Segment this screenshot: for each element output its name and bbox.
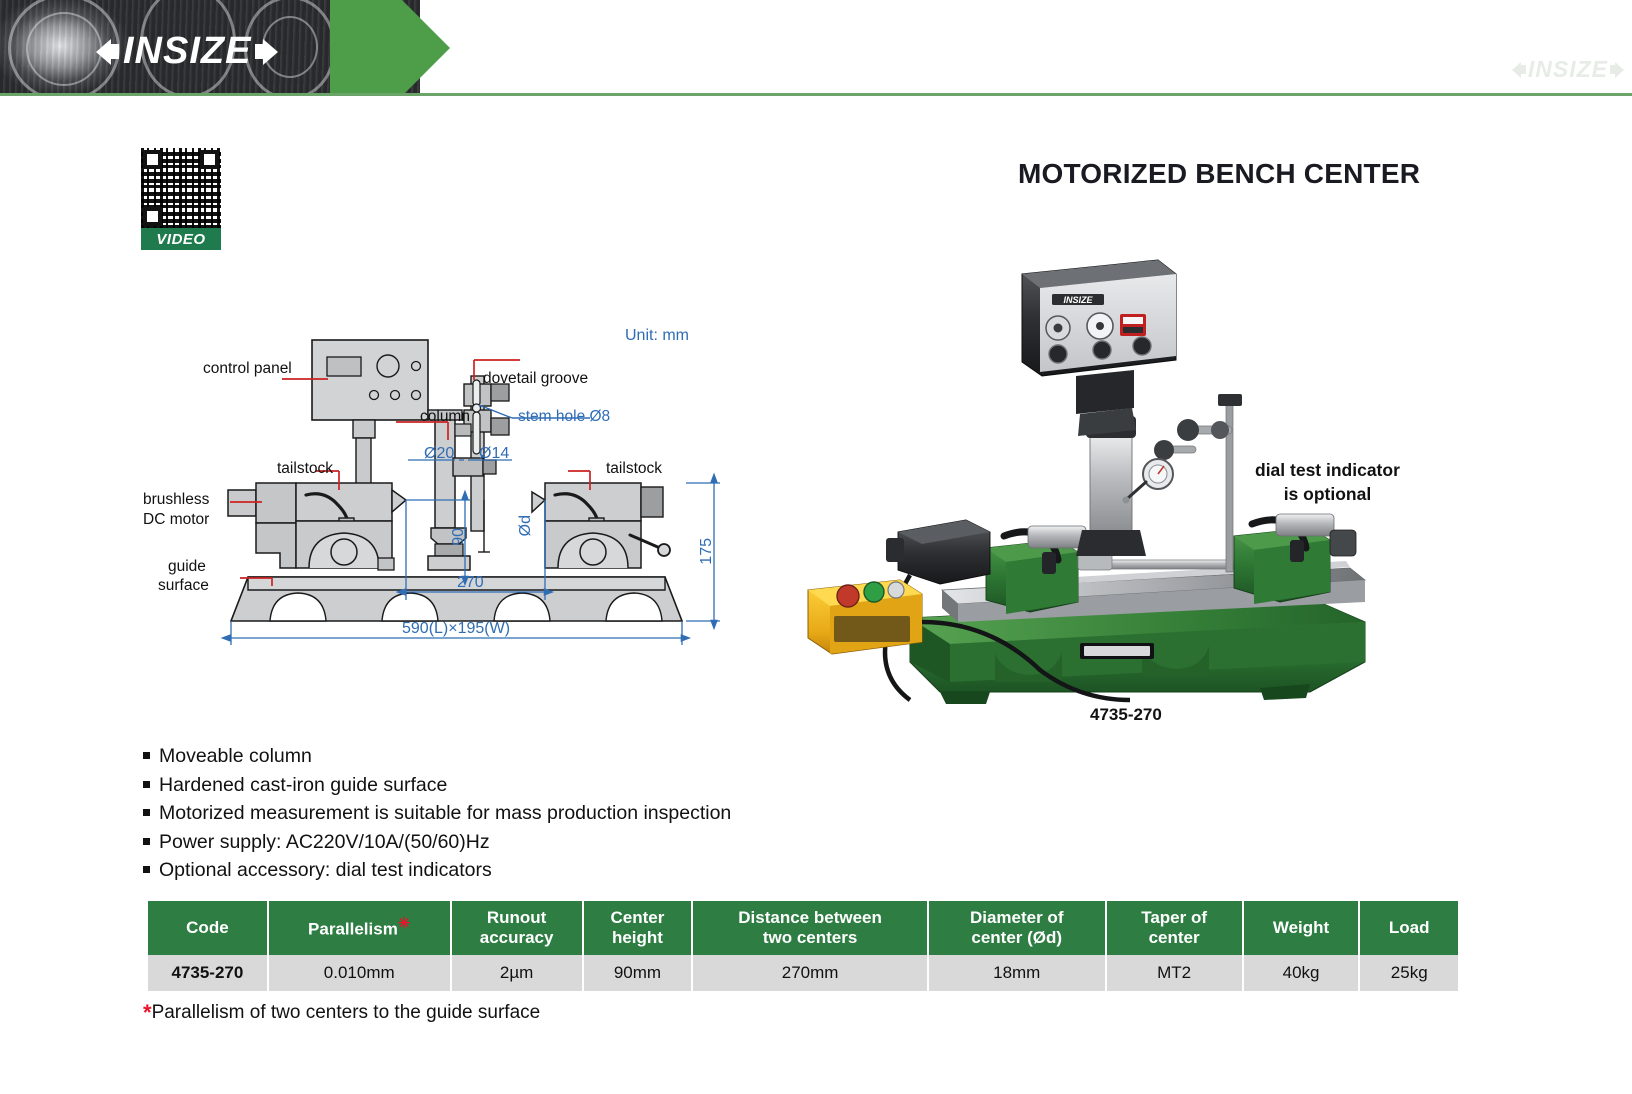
diagram-drawing bbox=[120, 300, 740, 670]
product-code-caption: 4735-270 bbox=[1090, 705, 1162, 725]
header-divider bbox=[0, 93, 1632, 96]
insize-logo: INSIZE bbox=[96, 30, 278, 73]
column-header-diameter-of-center: Diameter of center (Ød) bbox=[928, 901, 1106, 955]
list-item: Power supply: AC220V/10A/(50/60)Hz bbox=[143, 831, 731, 854]
bullet-square-icon bbox=[143, 866, 150, 873]
diameter-line1: Diameter of bbox=[933, 908, 1101, 928]
table-header-row: Code Parallelism✳ Runout accuracy Center… bbox=[148, 901, 1458, 955]
video-qr-block[interactable]: VIDEO bbox=[141, 148, 221, 250]
cell-parallelism: 0.010mm bbox=[268, 955, 451, 991]
feature-text: Hardened cast-iron guide surface bbox=[159, 774, 447, 797]
dimension-d14: Ø14 bbox=[479, 445, 509, 463]
runout-line1: Runout bbox=[456, 908, 578, 928]
runout-line2: accuracy bbox=[456, 928, 578, 948]
bullet-square-icon bbox=[143, 809, 150, 816]
feature-list: Moveable column Hardened cast-iron guide… bbox=[143, 745, 731, 888]
label-guide-surface-line2: surface bbox=[158, 577, 209, 595]
dimension-between-centers: 270 bbox=[457, 574, 484, 592]
list-item: Motorized measurement is suitable for ma… bbox=[143, 802, 731, 825]
center-line1: Center bbox=[588, 908, 688, 928]
taper-line1: Taper of bbox=[1111, 908, 1238, 928]
distance-line2: two centers bbox=[697, 928, 923, 948]
label-stem-hole: stem hole Ø8 bbox=[518, 408, 610, 426]
column-header-distance-between-centers: Distance between two centers bbox=[692, 901, 928, 955]
list-item: Hardened cast-iron guide surface bbox=[143, 774, 731, 797]
watermark-right-arrow-icon bbox=[1615, 62, 1624, 78]
footnote-asterisk-icon: * bbox=[143, 1000, 152, 1025]
bullet-square-icon bbox=[143, 838, 150, 845]
label-brushless-motor-line2: DC motor bbox=[143, 511, 209, 529]
logo-left-bar bbox=[109, 44, 119, 59]
label-column: column bbox=[420, 408, 470, 426]
column-header-load: Load bbox=[1359, 901, 1458, 955]
cell-runout-accuracy: 2µm bbox=[451, 955, 583, 991]
watermark-wordmark: INSIZE bbox=[1528, 56, 1608, 83]
logo-wordmark: INSIZE bbox=[122, 30, 252, 73]
footnote-text: Parallelism of two centers to the guide … bbox=[152, 1002, 541, 1023]
label-guide-surface-line1: guide bbox=[168, 558, 206, 576]
page-header: INSIZE INSIZE bbox=[0, 0, 1632, 96]
cell-taper-of-center: MT2 bbox=[1106, 955, 1243, 991]
technical-diagram: Unit: mm bbox=[120, 300, 740, 670]
table-row: 4735-270 0.010mm 2µm 90mm 270mm 18mm MT2… bbox=[148, 955, 1458, 991]
specification-table: Code Parallelism✳ Runout accuracy Center… bbox=[148, 901, 1458, 991]
cell-diameter-of-center: 18mm bbox=[928, 955, 1106, 991]
insize-logo-watermark: INSIZE bbox=[1512, 56, 1624, 83]
bullet-square-icon bbox=[143, 752, 150, 759]
label-dovetail-groove: dovetail groove bbox=[483, 370, 588, 388]
qr-finder-bottom-left bbox=[143, 207, 162, 226]
dimension-overall-height: 175 bbox=[698, 538, 716, 565]
logo-right-arrow-icon bbox=[263, 39, 278, 65]
label-tailstock-right: tailstock bbox=[606, 460, 662, 478]
unit-label: Unit: mm bbox=[625, 327, 689, 345]
column-header-code: Code bbox=[148, 901, 268, 955]
feature-text: Power supply: AC220V/10A/(50/60)Hz bbox=[159, 831, 490, 854]
list-item: Optional accessory: dial test indicators bbox=[143, 859, 731, 882]
column-header-parallelism: Parallelism✳ bbox=[268, 901, 451, 955]
optional-note-line1: dial test indicator bbox=[1255, 459, 1400, 483]
feature-text: Moveable column bbox=[159, 745, 312, 768]
label-control-panel: control panel bbox=[203, 360, 292, 378]
qr-finder-top-right bbox=[200, 150, 219, 169]
watermark-left-bar bbox=[1520, 65, 1526, 74]
cell-code: 4735-270 bbox=[148, 955, 268, 991]
dimension-center-height: 90 bbox=[450, 528, 468, 546]
column-header-center-height: Center height bbox=[583, 901, 693, 955]
cell-load: 25kg bbox=[1359, 955, 1458, 991]
optional-accessory-note: dial test indicator is optional bbox=[1255, 459, 1400, 506]
qr-code-icon[interactable] bbox=[141, 148, 221, 228]
column-header-runout-accuracy: Runout accuracy bbox=[451, 901, 583, 955]
distance-line1: Distance between bbox=[697, 908, 923, 928]
feature-text: Optional accessory: dial test indicators bbox=[159, 859, 492, 882]
label-brushless-motor-line1: brushless bbox=[143, 491, 209, 509]
feature-text: Motorized measurement is suitable for ma… bbox=[159, 802, 731, 825]
column-header-parallelism-label: Parallelism bbox=[308, 920, 398, 939]
cell-weight: 40kg bbox=[1243, 955, 1360, 991]
dimension-d20: Ø20 bbox=[424, 445, 454, 463]
dimension-diameter-d: Ød bbox=[517, 515, 535, 536]
diameter-line2: center (Ød) bbox=[933, 928, 1101, 948]
cell-center-height: 90mm bbox=[583, 955, 693, 991]
asterisk-icon: ✳ bbox=[398, 915, 411, 932]
dimension-base-size: 590(L)×195(W) bbox=[402, 620, 510, 638]
column-header-taper-of-center: Taper of center bbox=[1106, 901, 1243, 955]
video-label: VIDEO bbox=[141, 228, 221, 250]
bullet-square-icon bbox=[143, 781, 150, 788]
center-line2: height bbox=[588, 928, 688, 948]
optional-note-line2: is optional bbox=[1255, 483, 1400, 507]
table-footnote: *Parallelism of two centers to the guide… bbox=[143, 1000, 540, 1026]
page-title: MOTORIZED BENCH CENTER bbox=[1018, 158, 1420, 190]
column-header-weight: Weight bbox=[1243, 901, 1360, 955]
svg-text:INSIZE: INSIZE bbox=[1063, 295, 1093, 305]
label-tailstock-left: tailstock bbox=[277, 460, 333, 478]
cell-distance-between-centers: 270mm bbox=[692, 955, 928, 991]
list-item: Moveable column bbox=[143, 745, 731, 768]
gear-ring-icon bbox=[26, 12, 102, 86]
taper-line2: center bbox=[1111, 928, 1238, 948]
qr-finder-top-left bbox=[143, 150, 162, 169]
